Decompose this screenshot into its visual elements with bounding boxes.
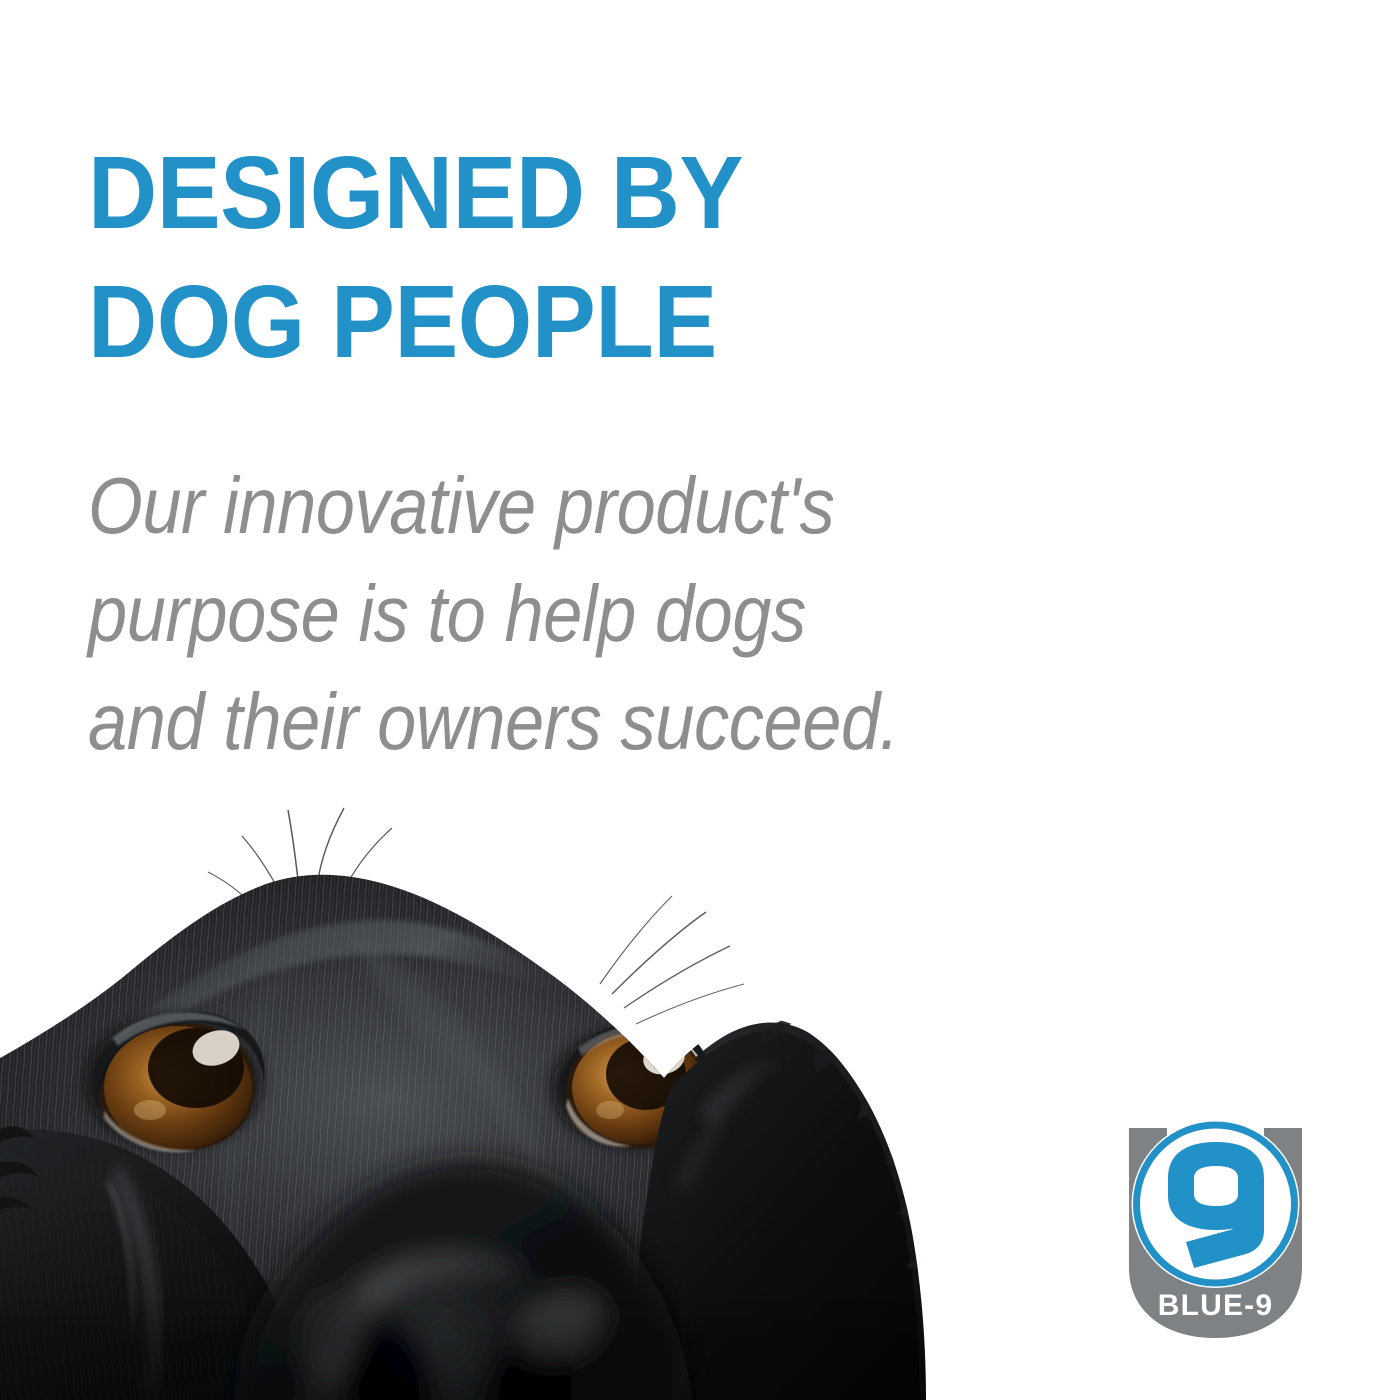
subtitle-line-1: Our innovative product's bbox=[88, 452, 1021, 560]
subtitle-line-2: purpose is to help dogs bbox=[88, 560, 1021, 668]
dog-photograph bbox=[0, 780, 1020, 1400]
headline-line-1: DESIGNED BY bbox=[88, 128, 1018, 257]
logo-wordmark: BLUE-9 bbox=[1158, 1289, 1274, 1322]
dog-illustration bbox=[0, 780, 1020, 1400]
headline-line-2: DOG PEOPLE bbox=[88, 257, 1018, 386]
marketing-card: DESIGNED BY DOG PEOPLE Our innovative pr… bbox=[0, 0, 1400, 1400]
page-title: DESIGNED BY DOG PEOPLE bbox=[88, 128, 1088, 386]
blue-9-logo[interactable]: BLUE-9 bbox=[1118, 1118, 1313, 1348]
subtitle-line-3: and their owners succeed. bbox=[88, 668, 1021, 776]
subtitle-block: Our innovative product's purpose is to h… bbox=[88, 452, 1148, 776]
